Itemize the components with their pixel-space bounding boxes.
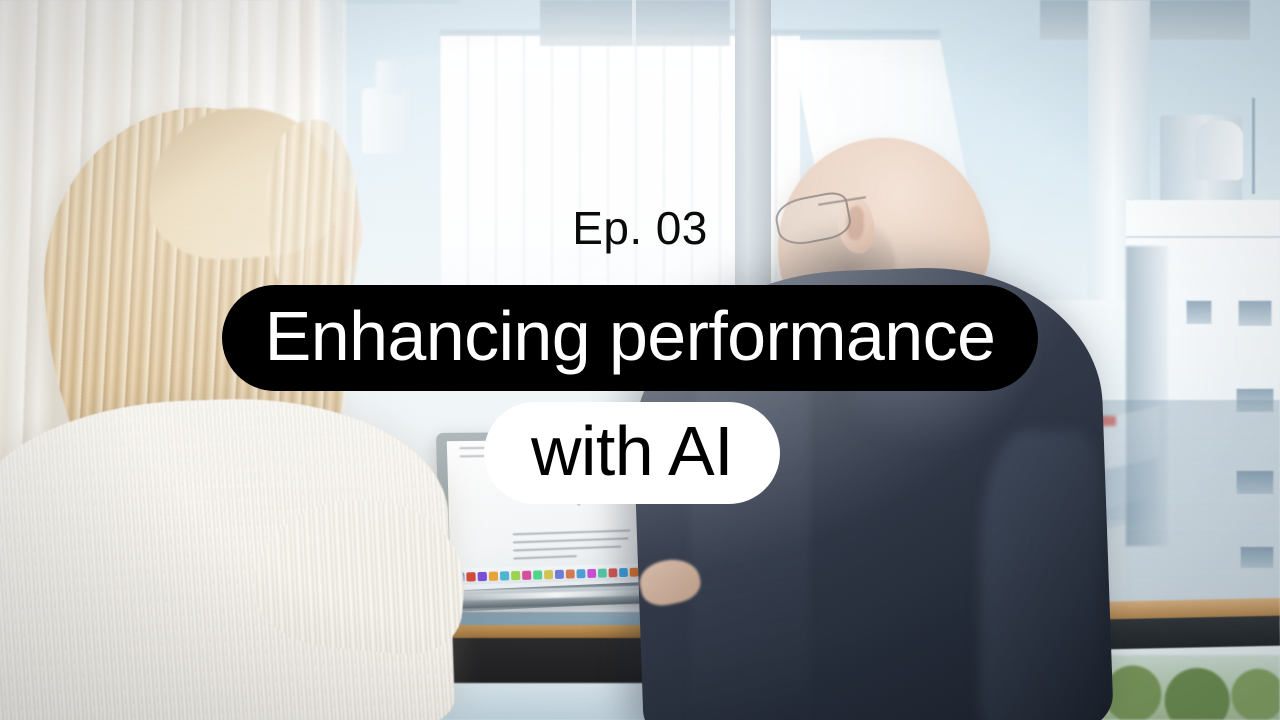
title-line-1: Enhancing performance [265,301,996,371]
title-overlay: Ep. 03 Enhancing performance with AI [0,0,1280,720]
episode-label: Ep. 03 [0,205,1280,251]
title-pill-primary: Enhancing performance [222,285,1038,391]
title-line-2: with AI [531,416,733,486]
video-thumbnail-card: Ep. 03 Enhancing performance with AI [0,0,1280,720]
title-pill-secondary: with AI [484,402,780,504]
